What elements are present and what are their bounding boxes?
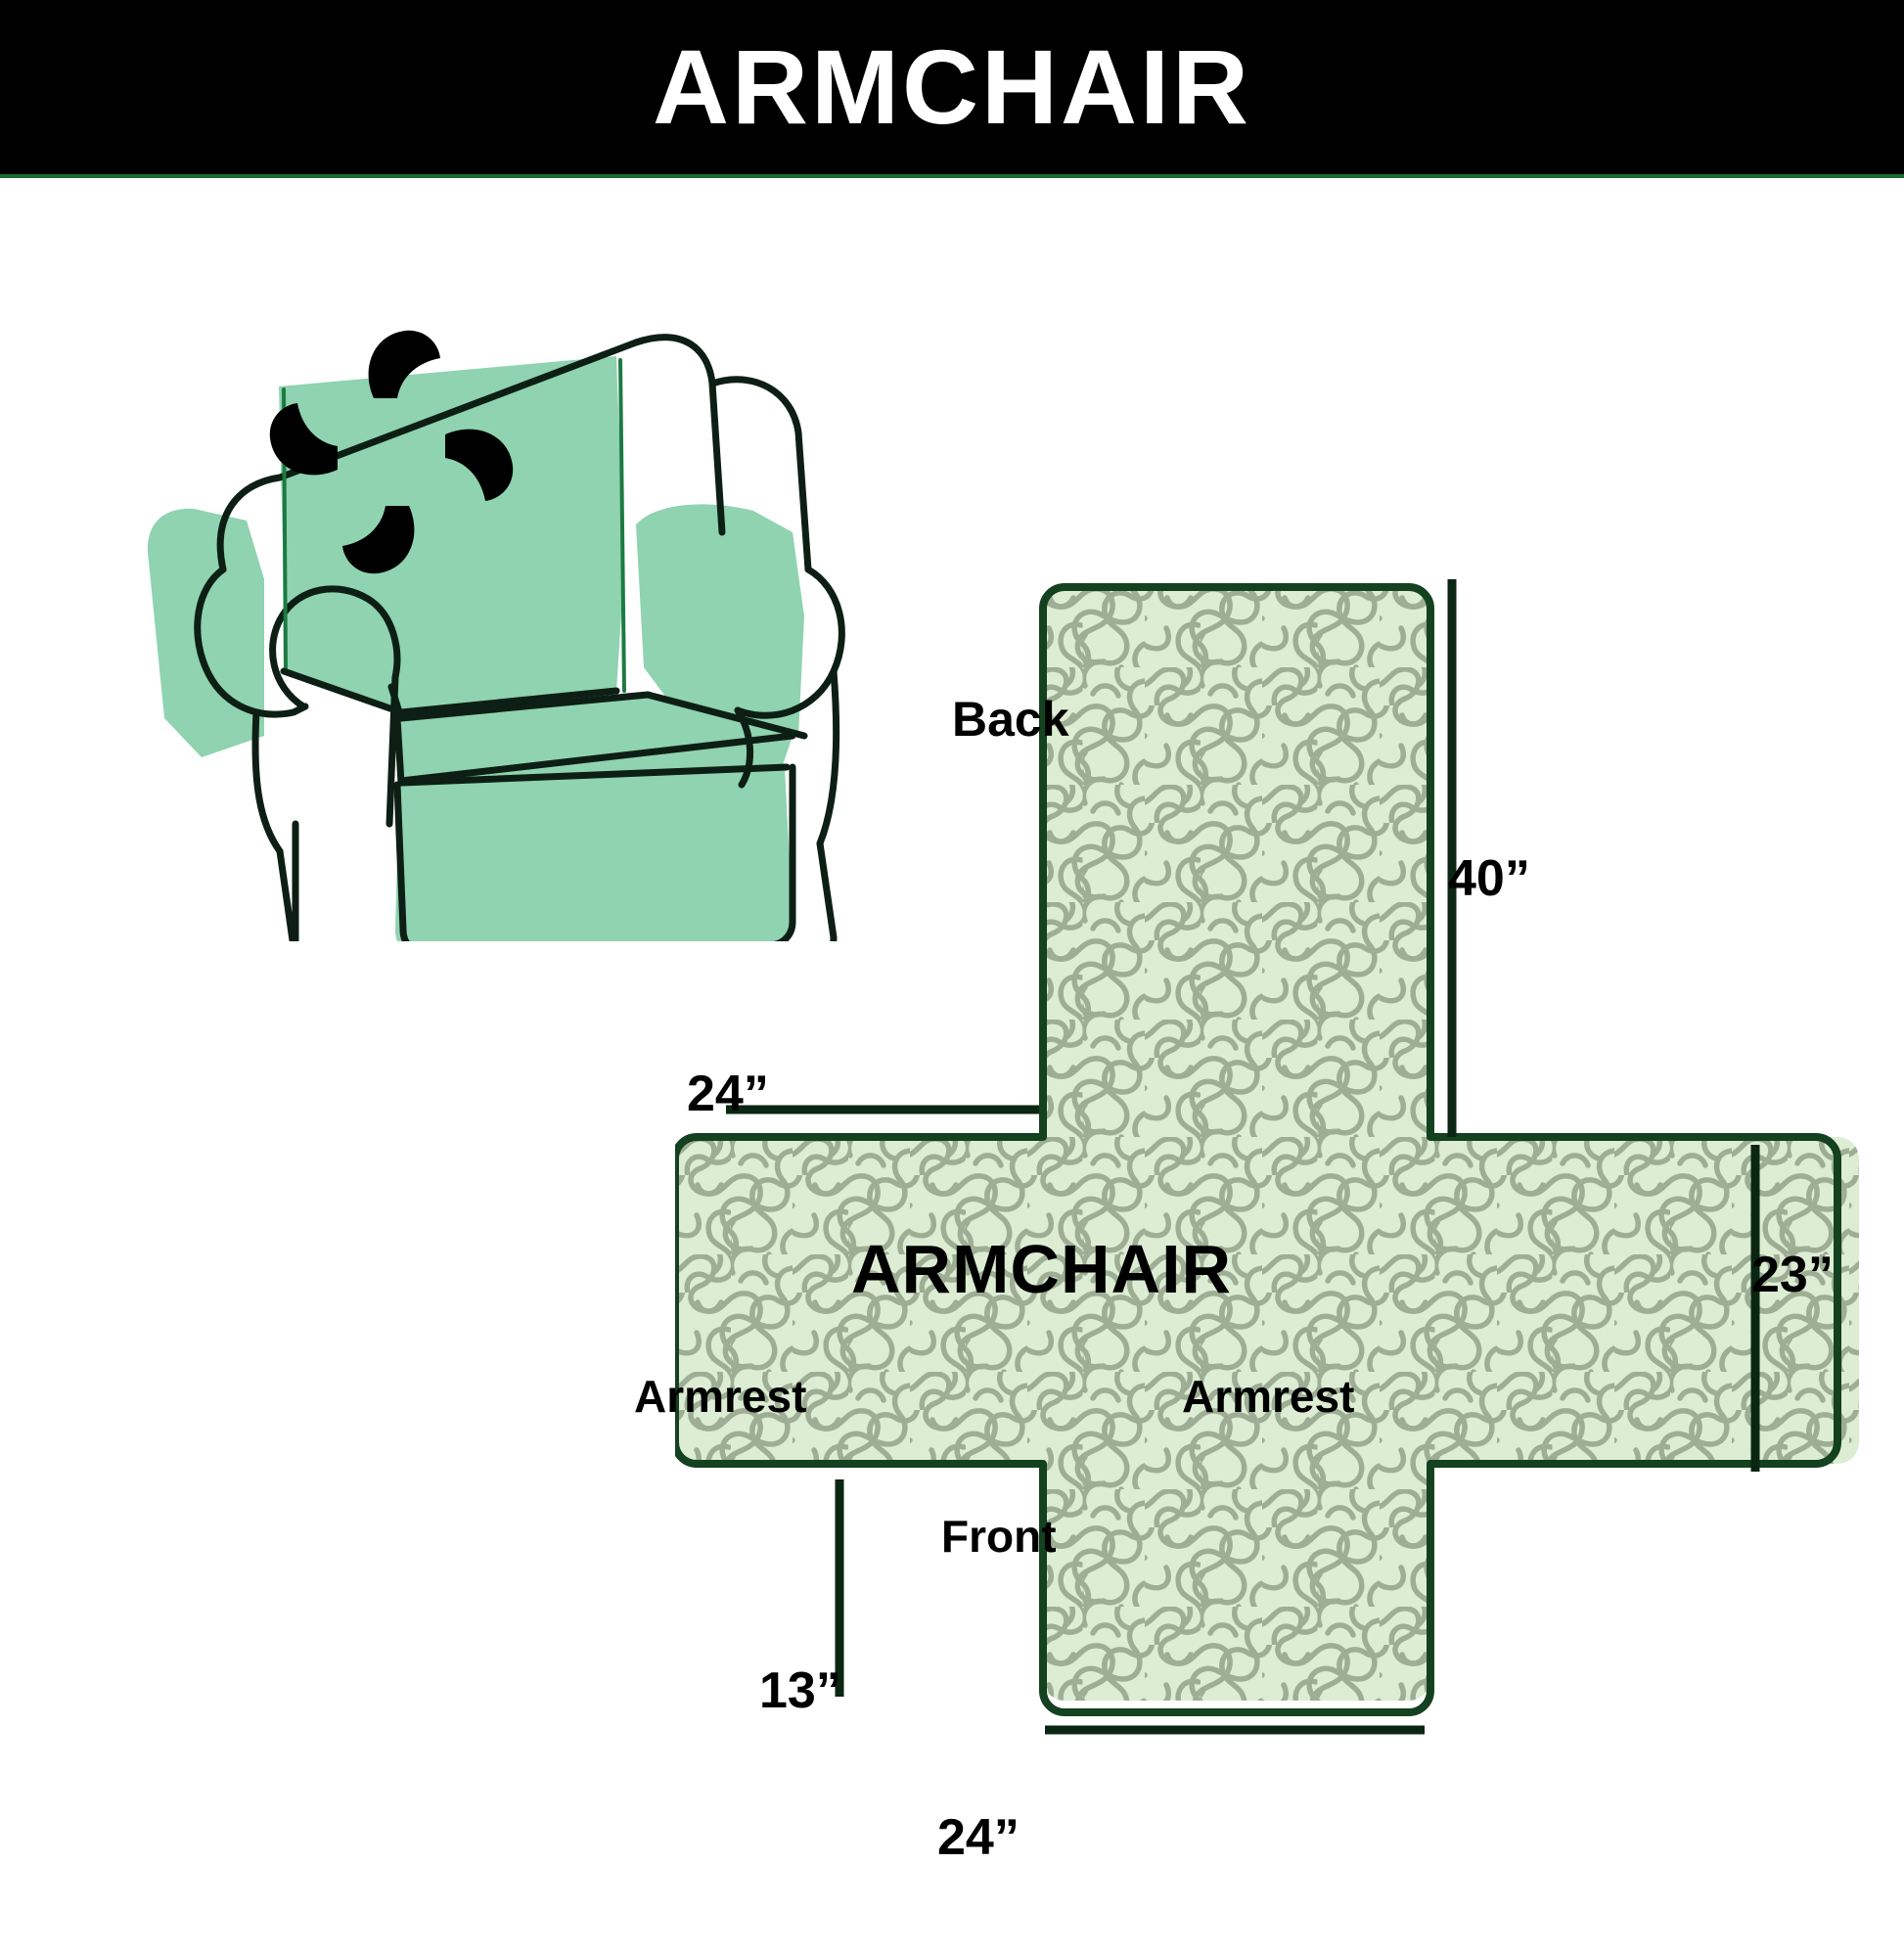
dimension-value-back-width: 24” xyxy=(687,1068,769,1119)
cross-shape-body xyxy=(675,587,1859,1712)
label-armrest-right: Armrest xyxy=(1182,1374,1354,1419)
slipcover-pattern-diagram: Back ARMCHAIR Armrest Armrest Front 40” … xyxy=(675,550,1859,1949)
content-canvas: Back ARMCHAIR Armrest Armrest Front 40” … xyxy=(0,178,1904,1904)
page-title: ARMCHAIR xyxy=(653,34,1251,140)
header-banner: ARMCHAIR xyxy=(0,0,1904,174)
dimension-value-front-width: 24” xyxy=(937,1812,1020,1863)
dimension-value-armrest-depth: 23” xyxy=(1751,1250,1834,1300)
dimension-value-front-height: 13” xyxy=(759,1665,841,1716)
dimension-value-back-height: 40” xyxy=(1448,853,1530,904)
label-armrest-left: Armrest xyxy=(634,1374,806,1419)
label-back: Back xyxy=(952,695,1069,744)
label-front: Front xyxy=(941,1514,1057,1559)
label-armchair-center: ARMCHAIR xyxy=(851,1235,1232,1303)
